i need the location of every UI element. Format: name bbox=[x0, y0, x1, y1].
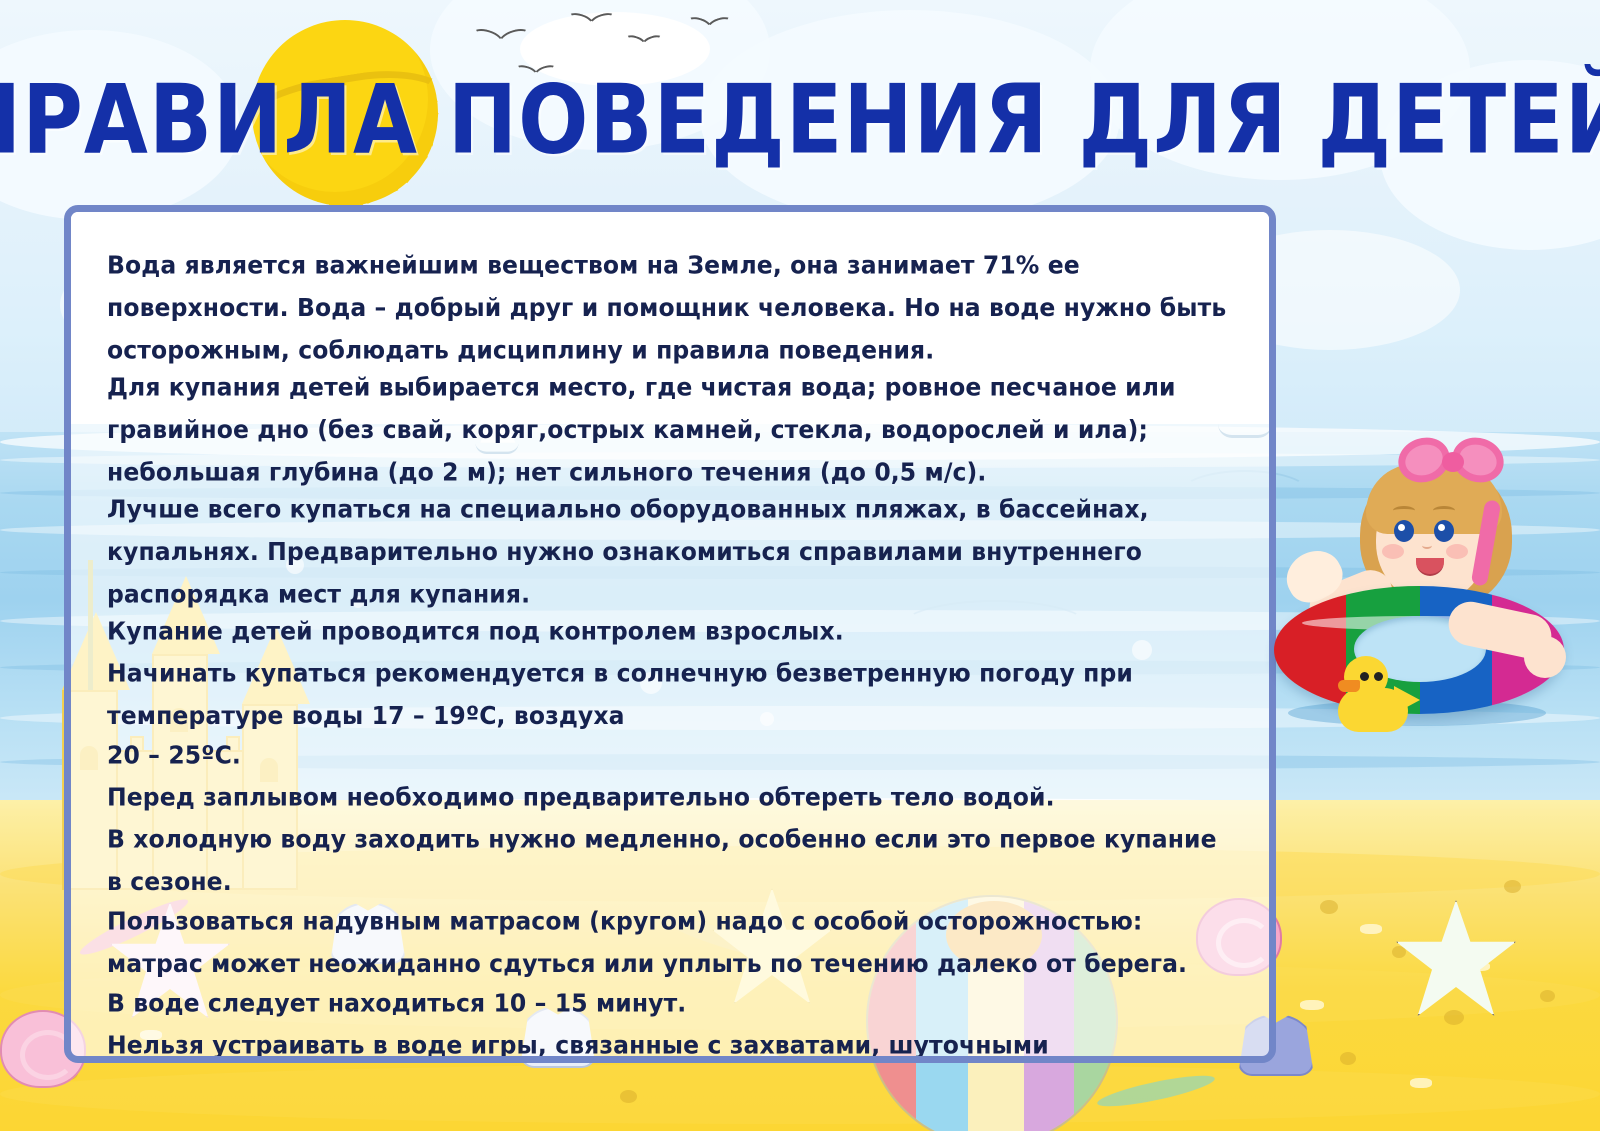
rule-paragraph: В воде следует находиться 10 – 15 минут. bbox=[107, 982, 1235, 1024]
sand-grain bbox=[1340, 1052, 1356, 1065]
rule-paragraph: В холодную воду заходить нужно медленно,… bbox=[107, 818, 1235, 903]
girl-cheek bbox=[1446, 544, 1468, 559]
page-title: ПРАВИЛА ПОВЕДЕНИЯ ДЛЯ ДЕТЕЙ НА ВОДЕ bbox=[0, 66, 1600, 176]
rubber-duck-icon bbox=[1338, 656, 1418, 732]
rule-paragraph: Для купания детей выбирается место, где … bbox=[107, 366, 1235, 493]
sand-grain bbox=[1444, 1010, 1464, 1025]
girl-hand bbox=[1524, 636, 1566, 678]
poster-canvas: ПРАВИЛА ПОВЕДЕНИЯ ДЛЯ ДЕТЕЙ НА ВОДЕ bbox=[0, 0, 1600, 1131]
girl-eyebrow bbox=[1433, 506, 1455, 515]
rule-paragraph: Купание детей проводится под контролем в… bbox=[107, 610, 1235, 652]
sand-grain bbox=[1360, 924, 1382, 934]
girl-nose bbox=[1422, 542, 1432, 549]
sand-band bbox=[0, 1064, 1600, 1124]
rule-paragraph: 20 – 25ºС. bbox=[107, 734, 1235, 776]
girl-cheek bbox=[1382, 544, 1404, 559]
sand-grain bbox=[1410, 1078, 1432, 1088]
girl-eye bbox=[1434, 520, 1454, 542]
rule-paragraph: Лучше всего купаться на специально обору… bbox=[107, 488, 1235, 615]
rule-paragraph: Вода является важнейшим веществом на Зем… bbox=[107, 244, 1235, 371]
girl-eyebrow bbox=[1393, 506, 1415, 515]
girl-in-swim-ring bbox=[1252, 418, 1582, 758]
rule-paragraph: Перед заплывом необходимо предварительно… bbox=[107, 776, 1235, 818]
rules-text-panel: Вода является важнейшим веществом на Зем… bbox=[64, 205, 1276, 1063]
girl-eye bbox=[1394, 520, 1414, 542]
sand-grain bbox=[620, 1090, 637, 1103]
rule-paragraph: Начинать купаться рекомендуется в солнеч… bbox=[107, 652, 1235, 737]
rule-paragraph: Пользоваться надувным матрасом (кругом) … bbox=[107, 900, 1235, 985]
rule-paragraph: Нельзя устраивать в воде игры, связанные… bbox=[107, 1024, 1235, 1063]
sand-grain bbox=[1300, 1000, 1324, 1010]
hair-bow-icon bbox=[1398, 438, 1508, 492]
sand-grain bbox=[1504, 880, 1521, 893]
sand-grain bbox=[1320, 900, 1338, 914]
sand-grain bbox=[1540, 990, 1555, 1002]
